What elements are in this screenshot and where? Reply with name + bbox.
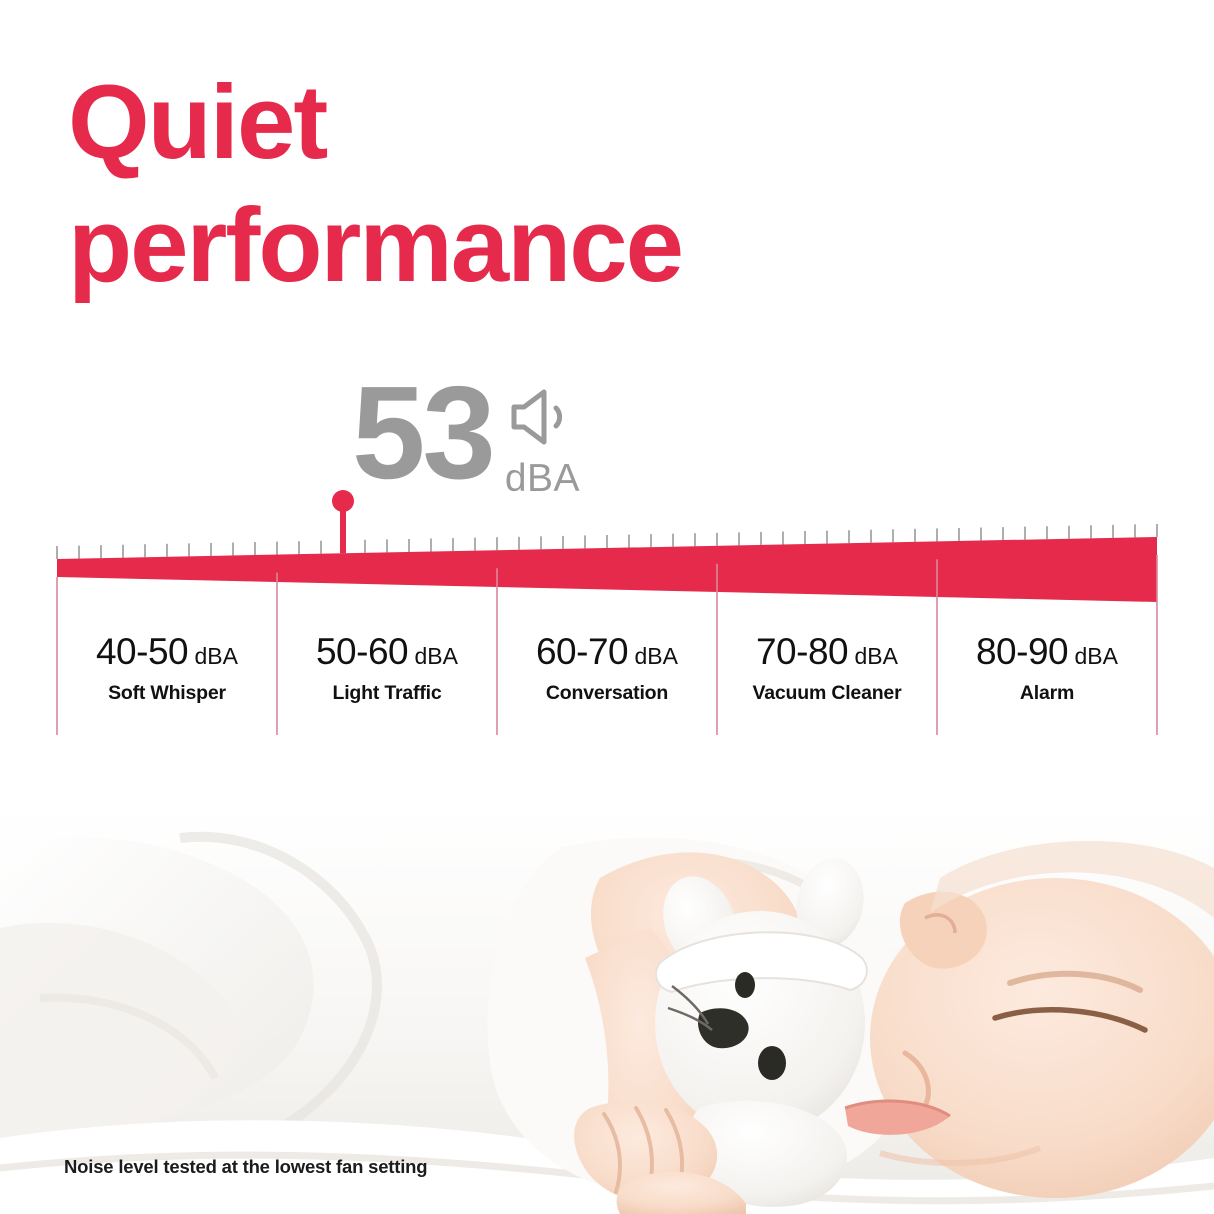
noise-marker: [332, 490, 354, 553]
scale-segment: 60-70 dBAConversation: [497, 625, 717, 735]
scale-segment-name: Light Traffic: [277, 682, 497, 705]
page-title-line-1: Quiet: [68, 62, 888, 185]
page-title: Quiet performance: [68, 62, 888, 308]
scale-segment-name: Vacuum Cleaner: [717, 682, 937, 705]
scale-segment: 50-60 dBALight Traffic: [277, 625, 497, 735]
scale-segment-name: Soft Whisper: [57, 682, 277, 705]
scale-segment-name: Alarm: [937, 682, 1157, 705]
scale-segment-range-value: 40-50: [96, 631, 188, 672]
scale-segment-range-unit: dBA: [408, 643, 458, 669]
scale-segment: 40-50 dBASoft Whisper: [57, 625, 277, 735]
scale-segment-range: 80-90 dBA: [937, 631, 1157, 673]
scale-segment-range-unit: dBA: [628, 643, 678, 669]
speaker-icon: [510, 386, 574, 453]
footnote: Noise level tested at the lowest fan set…: [64, 1156, 427, 1178]
scale-segment-range-value: 80-90: [976, 631, 1068, 672]
scale-segment-range-unit: dBA: [848, 643, 898, 669]
page-title-line-2: performance: [68, 185, 888, 308]
hero-photo-sleeping-baby: [0, 808, 1214, 1214]
scale-segment-name: Conversation: [497, 682, 717, 705]
noise-reading-value: 53: [352, 372, 493, 493]
scale-segment-range-value: 50-60: [316, 631, 408, 672]
scale-segment-labels: 40-50 dBASoft Whisper50-60 dBALight Traf…: [57, 625, 1157, 735]
noise-marker-dot: [332, 490, 354, 512]
scale-segment-range: 50-60 dBA: [277, 631, 497, 673]
scale-segment-range-unit: dBA: [1068, 643, 1118, 669]
scale-segment-range: 40-50 dBA: [57, 631, 277, 673]
scale-segment-range-value: 70-80: [756, 631, 848, 672]
scale-segment: 80-90 dBAAlarm: [937, 625, 1157, 735]
scale-segment-range-value: 60-70: [536, 631, 628, 672]
scale-segment-range-unit: dBA: [188, 643, 238, 669]
scale-segment-range: 60-70 dBA: [497, 631, 717, 673]
scale-segment-range: 70-80 dBA: [717, 631, 937, 673]
scale-segment: 70-80 dBAVacuum Cleaner: [717, 625, 937, 735]
